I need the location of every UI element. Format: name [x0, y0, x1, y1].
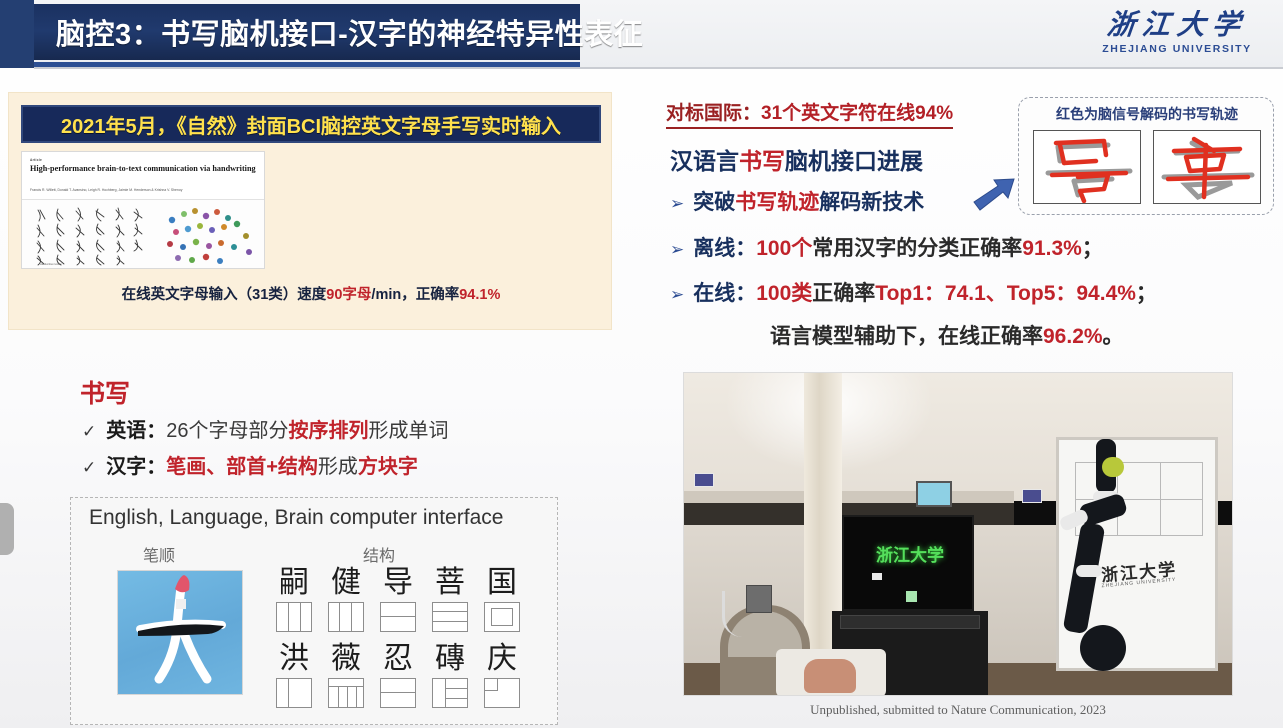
- header-left-accent-block: [0, 0, 34, 68]
- chinese-text-highlight-1: 笔画、部首+结构: [166, 456, 318, 478]
- tsne-scatter-figure: [154, 202, 262, 268]
- bullet-3-label: 在线：: [693, 282, 756, 305]
- heading-part-a: 汉语言: [670, 148, 739, 174]
- grid-char: 导: [375, 566, 421, 600]
- paper-kicker: Article: [30, 158, 42, 162]
- heading-part-c: 脑机接口进展: [785, 148, 923, 174]
- international-benchmark-line: 对标国际：31个英文字符在线94%: [666, 98, 953, 129]
- stimulus-monitor: 浙江大学: [842, 515, 974, 611]
- bullet-online-accuracy: ➢在线：100类正确率Top1：74.1、Top5：94.4%；: [670, 277, 1157, 307]
- robot-end-effector: [1102, 457, 1124, 477]
- structure-diagram: [380, 678, 416, 708]
- nature-paper-panel: 2021年5月，《自然》封面BCI脑控英文字母手写实时输入 Article Hi…: [8, 92, 612, 330]
- online-english-caption: 在线英文字母输入（31类）速度90字母/min，正确率94.1%: [9, 283, 613, 304]
- benchmark-label: 对标国际：: [666, 103, 761, 124]
- robot-arm-base: [1080, 625, 1126, 671]
- char-cell: 庆: [479, 642, 525, 708]
- da-character-brush-svg: [118, 571, 244, 696]
- patient-hand: [804, 659, 856, 693]
- trace-image-xie: [1033, 130, 1141, 204]
- bullet-2-value: 91.3%: [1022, 237, 1082, 260]
- char-cell: 国: [479, 566, 525, 632]
- bullet-3-text: 正确率: [812, 282, 875, 305]
- chinese-label: 汉字: [106, 456, 146, 478]
- lm-accuracy-value: 96.2%: [1043, 325, 1103, 348]
- bullet-1-text-a: 突破: [693, 191, 735, 214]
- bullet-3-suffix: ；: [1136, 282, 1157, 305]
- bullet-3-values: Top1：74.1、Top5：94.4%: [875, 282, 1136, 305]
- trace-box-caption: 红色为脑信号解码的书写轨迹: [1019, 104, 1275, 124]
- chinese-colon: ：: [146, 456, 166, 478]
- bedside-device: [916, 481, 952, 507]
- bullet-arrow-icon: ➢: [670, 194, 684, 213]
- chinese-text-highlight-2: 方块字: [358, 456, 418, 478]
- benchmark-value: 31个英文字符在线94%: [761, 103, 953, 124]
- structure-diagram: [380, 602, 416, 632]
- bullet-offline-accuracy: ➢离线：100个常用汉字的分类正确率91.3%；: [670, 232, 1103, 262]
- grid-char: 忍: [375, 642, 421, 676]
- publication-footnote: Unpublished, submitted to Nature Communi…: [683, 702, 1233, 718]
- monitor-text: 浙江大学: [844, 541, 976, 566]
- nature-cover-banner: 2021年5月，《自然》封面BCI脑控英文字母手写实时输入: [21, 105, 601, 143]
- implant-cable: [722, 591, 748, 637]
- trace-svg-zi: [1154, 131, 1261, 204]
- chinese-bci-progress-heading: 汉语言书写脑机接口进展: [670, 142, 923, 176]
- paper-title: High-performance brain-to-text communica…: [30, 164, 256, 174]
- bullet-2-text: 常用汉字的分类正确率: [812, 237, 1022, 260]
- check-icon: ✓: [82, 422, 96, 441]
- left-edge-scroll-tab[interactable]: [0, 503, 14, 555]
- language-model-line: 语言模型辅助下，在线正确率96.2%。: [770, 320, 1124, 350]
- wall-tag-1: [694, 473, 714, 487]
- neural-implant-connector: [746, 585, 772, 613]
- paper-thumbnail: Article High-performance brain-to-text c…: [21, 151, 265, 269]
- bci-lab-photo: 浙江大学 浙江大学 ZHEJIANG UNIVERSITY: [683, 372, 1233, 696]
- writing-section-heading: 书写: [80, 374, 130, 410]
- logo-chinese-name: 浙江大学: [1106, 12, 1249, 40]
- header-divider: [34, 67, 1283, 69]
- bullet-1-highlight: 书写轨迹: [735, 191, 819, 214]
- bullet-decoding-technology: ➢突破书写轨迹解码新技术: [670, 186, 924, 216]
- grid-char: 菩: [427, 566, 473, 600]
- svg-text:Handwritten letters: Handwritten letters: [40, 262, 62, 266]
- english-text-1: 26个字母部分: [166, 420, 288, 442]
- structure-diagram: [484, 602, 520, 632]
- english-colon: ：: [146, 420, 166, 442]
- grid-char: 嗣: [271, 566, 317, 600]
- caption-accuracy-value: 94.1%: [459, 287, 500, 303]
- structure-diagram: [276, 678, 312, 708]
- bullet-arrow-icon: ➢: [670, 285, 684, 304]
- grid-char: 国: [479, 566, 525, 600]
- structure-diagram: [328, 602, 364, 632]
- grid-char: 庆: [479, 642, 525, 676]
- english-text-2: 形成单词: [369, 420, 449, 442]
- check-icon: ✓: [82, 458, 96, 477]
- caption-middle: /min，正确率: [371, 287, 459, 303]
- robot-arm-joint-3: [1076, 565, 1102, 577]
- char-cell: 忍: [375, 642, 421, 708]
- page-title: 脑控3：书写脑机接口-汉字的神经特异性表征: [56, 11, 643, 53]
- grid-char: 健: [323, 566, 369, 600]
- slide-canvas: 脑控3：书写脑机接口-汉字的神经特异性表征 浙江大学 ZHEJIANG UNIV…: [0, 0, 1283, 728]
- paper-authors: Francis R. Willett, Donald T. Avansino, …: [30, 188, 256, 193]
- english-sample-text: English, Language, Brain computer interf…: [89, 506, 503, 530]
- trace-image-zi: [1153, 130, 1261, 204]
- char-cell: 健: [323, 566, 369, 632]
- character-structure-grid: 嗣 健 导 菩: [271, 566, 547, 716]
- structure-diagram: [328, 678, 364, 708]
- char-cell: 导: [375, 566, 421, 632]
- lm-text-c: 。: [1103, 325, 1124, 348]
- zhejiang-university-logo: 浙江大学 ZHEJIANG UNIVERSITY: [1087, 4, 1267, 62]
- heading-part-b: 书写: [739, 148, 785, 174]
- bullet-2-suffix: ；: [1082, 237, 1103, 260]
- structure-diagram: [484, 678, 520, 708]
- grid-char: 磚: [427, 642, 473, 676]
- character-structure-box: English, Language, Brain computer interf…: [70, 497, 558, 725]
- bullet-2-label: 离线：: [693, 237, 756, 260]
- chinese-text-mid: 形成: [318, 456, 358, 478]
- up-right-arrow-icon: [972, 176, 1016, 212]
- title-band: 脑控3：书写脑机接口-汉字的神经特异性表征: [34, 4, 580, 60]
- decoded-trajectory-box: 红色为脑信号解码的书写轨迹: [1018, 97, 1274, 215]
- char-cell: 洪: [271, 642, 317, 708]
- caption-speed-value: 90字母: [326, 287, 371, 303]
- structure-diagram: [276, 602, 312, 632]
- bullet-arrow-icon: ➢: [670, 240, 684, 259]
- grid-char: 洪: [271, 642, 317, 676]
- monitor-target-square: [906, 591, 917, 602]
- paper-figures: Handwritten letters: [22, 200, 265, 269]
- stroke-order-illustration: [117, 570, 243, 695]
- keyboard: [840, 615, 980, 629]
- monitor-cursor-dot: [872, 573, 882, 580]
- structure-diagram: [432, 678, 468, 708]
- handwriting-strokes-figure: Handwritten letters: [32, 204, 150, 266]
- trace-images: [1033, 130, 1261, 204]
- char-cell: 菩: [427, 566, 473, 632]
- logo-english-name: ZHEJIANG UNIVERSITY: [1102, 43, 1251, 55]
- char-cell: 薇: [323, 642, 369, 708]
- stroke-order-label: 笔顺: [143, 542, 175, 566]
- writing-bullet-chinese: ✓汉字：笔画、部首+结构形成方块字: [82, 450, 418, 479]
- bullet-2-count: 100个: [756, 237, 812, 260]
- structure-label: 结构: [363, 542, 395, 566]
- grid-char: 薇: [323, 642, 369, 676]
- bullet-1-text-c: 解码新技术: [819, 191, 924, 214]
- slide-header: 脑控3：书写脑机接口-汉字的神经特异性表征 浙江大学 ZHEJIANG UNIV…: [0, 0, 1283, 68]
- char-cell: 嗣: [271, 566, 317, 632]
- char-cell: 磚: [427, 642, 473, 708]
- bullet-3-count: 100类: [756, 282, 812, 305]
- caption-prefix: 在线英文字母输入（31类）速度: [122, 287, 327, 303]
- banner-text: 2021年5月，《自然》封面BCI脑控英文字母手写实时输入: [61, 110, 561, 139]
- english-label: 英语: [106, 420, 146, 442]
- photo-wall-rail: [684, 491, 1014, 503]
- english-text-highlight: 按序排列: [289, 420, 369, 442]
- trace-svg-xie: [1034, 131, 1141, 204]
- wall-tag-2: [1022, 489, 1042, 503]
- lm-text-a: 语言模型辅助下，在线正确率: [770, 325, 1043, 348]
- writing-bullet-english: ✓英语：26个字母部分按序排列形成单词: [82, 414, 449, 443]
- structure-diagram: [432, 602, 468, 632]
